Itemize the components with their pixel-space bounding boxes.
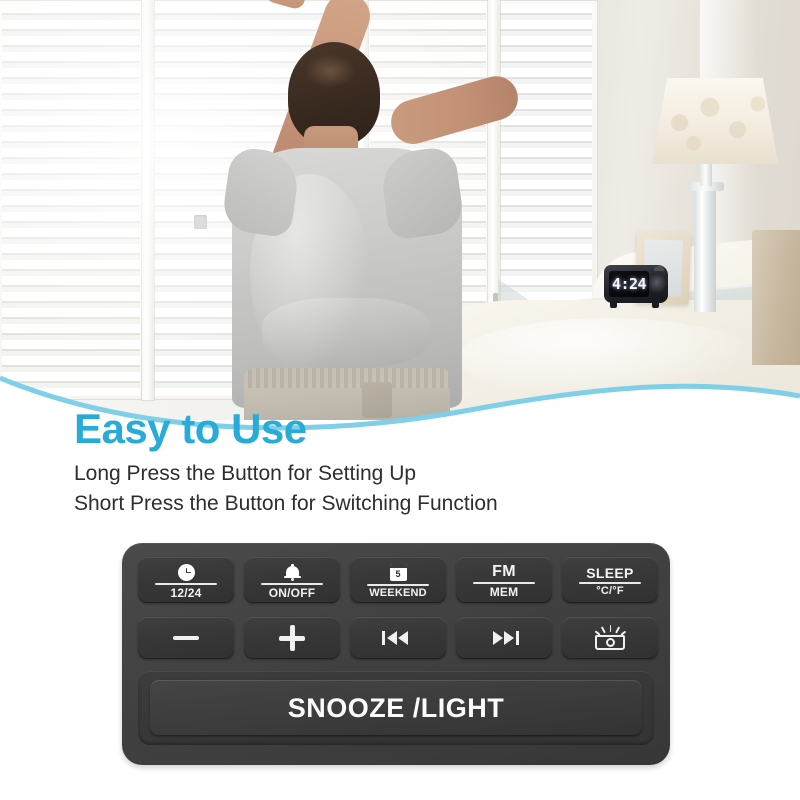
snooze-button-label: SNOOZE /LIGHT — [288, 693, 505, 724]
bell-icon — [284, 563, 301, 581]
calendar-icon: 5 — [390, 564, 407, 582]
button-label: ON/OFF — [269, 587, 316, 599]
minus-icon — [173, 636, 199, 641]
clock-led-screen: 4:24 — [609, 271, 649, 297]
increase-button[interactable] — [244, 617, 340, 659]
alarm-onoff-button[interactable]: ON/OFF — [244, 557, 340, 603]
fm-mem-button[interactable]: FM MEM — [456, 557, 552, 603]
lamp-shade — [652, 78, 778, 164]
button-divider — [155, 583, 217, 585]
door-panel — [752, 230, 800, 365]
button-label: MEM — [490, 586, 519, 598]
button-row-top: 12/24 ON/OFF 5 WEEKEND — [138, 557, 658, 603]
weekend-button[interactable]: 5 WEEKEND — [350, 557, 446, 603]
clock-top-knob — [654, 266, 664, 271]
product-feature-page: 4:24 Easy — [0, 0, 800, 800]
button-row-middle — [138, 617, 658, 659]
button-label: WEEKEND — [369, 588, 427, 599]
sleep-temp-button[interactable]: SLEEP °C/°F — [562, 557, 658, 603]
button-divider — [367, 584, 429, 586]
next-track-button[interactable] — [456, 617, 552, 659]
next-icon — [487, 630, 521, 646]
decrease-button[interactable] — [138, 617, 234, 659]
clock-time-readout: 4:24 — [609, 275, 649, 293]
alarm-clock-product: 4:24 — [604, 265, 676, 311]
projector-icon — [593, 625, 627, 651]
previous-icon — [381, 630, 415, 646]
button-label: °C/°F — [596, 586, 624, 597]
button-label: 12/24 — [170, 587, 201, 599]
previous-track-button[interactable] — [350, 617, 446, 659]
snooze-light-button[interactable]: SNOOZE /LIGHT — [150, 680, 642, 736]
button-primary-label: SLEEP — [586, 566, 633, 580]
lamp-stem — [694, 190, 716, 312]
projection-button[interactable] — [562, 617, 658, 659]
button-divider — [473, 582, 535, 584]
time-format-button[interactable]: 12/24 — [138, 557, 234, 603]
clock-projector-lens — [650, 274, 667, 295]
raised-right-arm — [386, 71, 523, 149]
clock-icon — [178, 563, 195, 581]
snooze-button-housing: SNOOZE /LIGHT — [138, 671, 654, 745]
button-divider — [579, 582, 641, 584]
plus-icon — [279, 625, 305, 651]
subtitle-short-press: Short Press the Button for Switching Fun… — [74, 492, 498, 516]
button-primary-label: FM — [492, 564, 516, 580]
page-title: Easy to Use — [74, 405, 307, 453]
subtitle-long-press: Long Press the Button for Setting Up — [74, 462, 416, 486]
control-panel: 12/24 ON/OFF 5 WEEKEND — [122, 543, 670, 765]
calendar-day-number: 5 — [390, 568, 407, 580]
button-divider — [261, 583, 323, 585]
left-hand — [263, 0, 312, 11]
